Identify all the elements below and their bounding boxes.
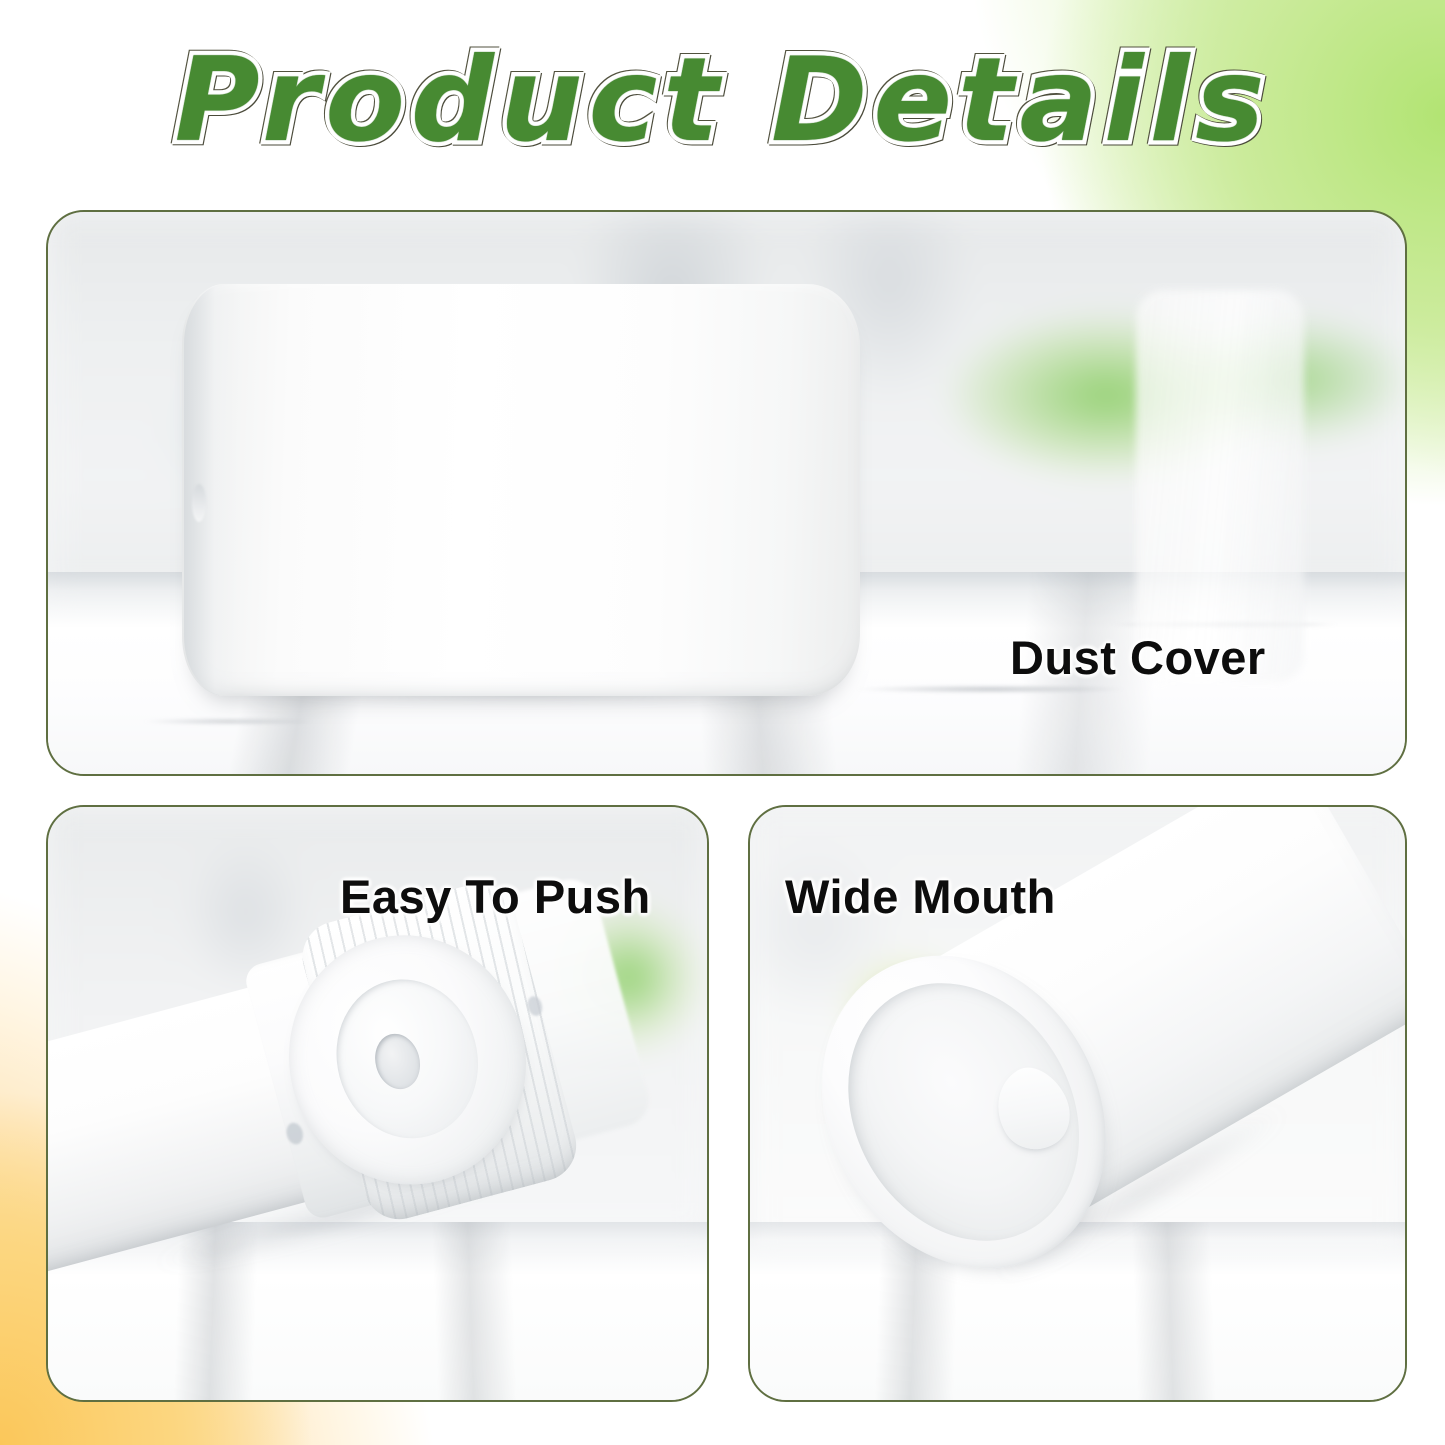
card-easy-push[interactable]: Easy To Push: [46, 805, 709, 1402]
dust-cover-product-image: [182, 284, 860, 696]
scene-dust-cover: [48, 212, 1405, 774]
background-bottle: [1136, 290, 1304, 682]
label-dust-cover: Dust Cover: [1010, 630, 1266, 685]
page-title: Product Details: [175, 40, 1271, 162]
dust-cover-notch: [192, 484, 206, 522]
product-details-infographic: Product Details Dust Cover: [0, 0, 1445, 1445]
title-container: Product Details: [0, 40, 1445, 162]
card-dust-cover[interactable]: Dust Cover: [46, 210, 1407, 776]
label-wide-mouth: Wide Mouth: [785, 869, 1056, 924]
label-easy-to-push: Easy To Push: [340, 869, 651, 924]
card-wide-mouth[interactable]: Wide Mouth: [748, 805, 1407, 1402]
